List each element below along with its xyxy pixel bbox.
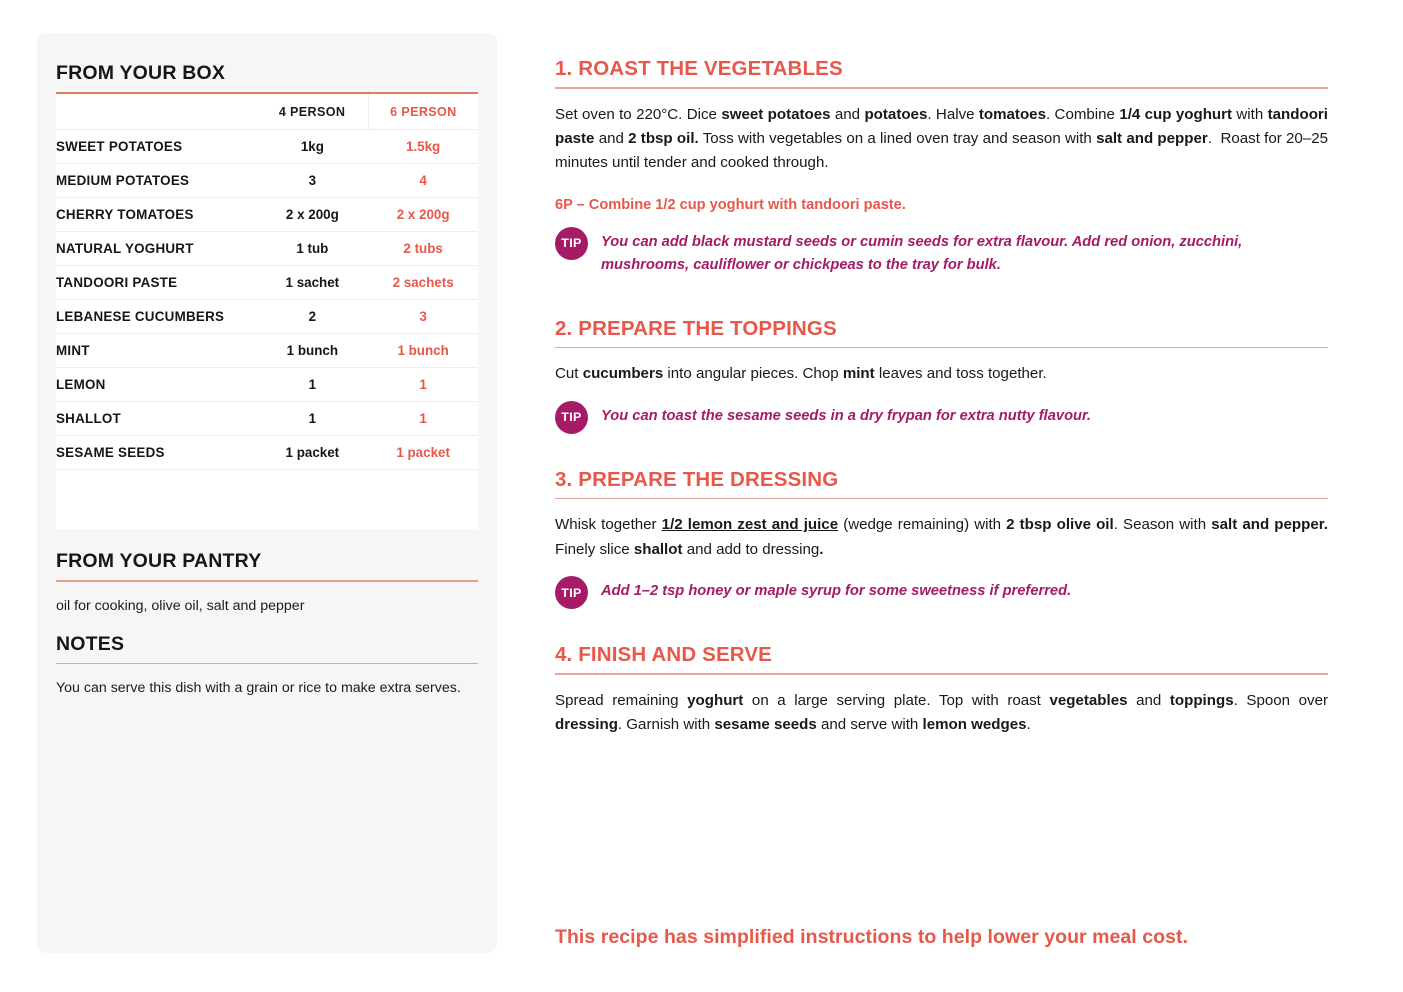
table-row: LEMON 1 1 (56, 367, 478, 401)
ingredient-qty-4: 1 (256, 401, 368, 435)
ingredient-qty-6: 1 (368, 367, 478, 401)
table-row: LEBANESE CUCUMBERS 2 3 (56, 299, 478, 333)
ingredient-name: TANDOORI PASTE (56, 265, 256, 299)
ingredient-qty-6: 1 bunch (368, 333, 478, 367)
column-header-4-person: 4 PERSON (256, 94, 368, 130)
ingredient-qty-6: 1 packet (368, 435, 478, 469)
step-2-body: Cut cucumbers into angular pieces. Chop … (555, 362, 1328, 386)
ingredient-name: CHERRY TOMATOES (56, 197, 256, 231)
ingredient-name: MEDIUM POTATOES (56, 163, 256, 197)
ingredient-name: SWEET POTATOES (56, 129, 256, 163)
notes-section: NOTES You can serve this dish with a gra… (56, 633, 478, 700)
table-row: SWEET POTATOES 1kg 1.5kg (56, 129, 478, 163)
table-header-row: 4 PERSON 6 PERSON (56, 94, 478, 130)
table-row: TANDOORI PASTE 1 sachet 2 sachets (56, 265, 478, 299)
step-4-body: Spread remaining yoghurt on a large serv… (555, 689, 1328, 738)
ingredient-qty-6: 2 tubs (368, 231, 478, 265)
ingredient-qty-6: 1.5kg (368, 129, 478, 163)
ingredient-qty-4: 1 packet (256, 435, 368, 469)
ingredients-table: 4 PERSON 6 PERSON SWEET POTATOES 1kg 1.5… (56, 94, 478, 500)
table-row: SESAME SEEDS 1 packet 1 packet (56, 435, 478, 469)
ingredient-qty-6: 1 (368, 401, 478, 435)
step-2-tip-text: You can toast the sesame seeds in a dry … (601, 405, 1091, 428)
ingredient-qty-4: 1 bunch (256, 333, 368, 367)
ingredient-qty-4: 1 sachet (256, 265, 368, 299)
ingredient-qty-4: 1 (256, 367, 368, 401)
step-1-six-person-note: 6P – Combine 1/2 cup yoghurt with tandoo… (555, 197, 1328, 213)
ingredient-name: SHALLOT (56, 401, 256, 435)
ingredient-qty-4: 2 (256, 299, 368, 333)
from-your-box-section: FROM YOUR BOX 4 PERSON 6 PERSON (56, 62, 478, 529)
step-3: 3. PREPARE THE DRESSING Whisk together 1… (555, 468, 1328, 609)
step-4: 4. FINISH AND SERVE Spread remaining yog… (555, 643, 1328, 737)
ingredient-qty-6: 2 x 200g (368, 197, 478, 231)
step-1-body: Set oven to 220°C. Dice sweet potatoes a… (555, 103, 1328, 176)
table-row: CHERRY TOMATOES 2 x 200g 2 x 200g (56, 197, 478, 231)
ingredient-qty-4: 1 tub (256, 231, 368, 265)
ingredients-sidebar: FROM YOUR BOX 4 PERSON 6 PERSON (37, 33, 497, 953)
step-4-divider (555, 673, 1328, 675)
from-your-box-title: FROM YOUR BOX (56, 62, 478, 85)
footer-note: This recipe has simplified instructions … (555, 926, 1345, 949)
step-2-divider (555, 347, 1328, 349)
from-your-pantry-section: FROM YOUR PANTRY oil for cooking, olive … (56, 550, 478, 617)
column-header-6-person: 6 PERSON (368, 94, 478, 130)
tip-badge-icon: TIP (555, 401, 588, 434)
step-1-tip: TIP You can add black mustard seeds or c… (555, 231, 1328, 277)
step-3-tip: TIP Add 1–2 tsp honey or maple syrup for… (555, 580, 1328, 609)
from-your-pantry-title: FROM YOUR PANTRY (56, 550, 478, 573)
step-2-heading: 2. PREPARE THE TOPPINGS (555, 317, 1328, 341)
table-row: NATURAL YOGHURT 1 tub 2 tubs (56, 231, 478, 265)
notes-title: NOTES (56, 633, 478, 656)
step-2-tip: TIP You can toast the sesame seeds in a … (555, 405, 1328, 434)
step-1: 1. ROAST THE VEGETABLES Set oven to 220°… (555, 57, 1328, 277)
table-row: MINT 1 bunch 1 bunch (56, 333, 478, 367)
column-header-ingredient (56, 94, 256, 130)
ingredient-qty-4: 1kg (256, 129, 368, 163)
step-1-tip-text: You can add black mustard seeds or cumin… (601, 231, 1328, 277)
notes-text: You can serve this dish with a grain or … (56, 664, 478, 699)
tip-badge-icon: TIP (555, 576, 588, 609)
table-trailing-spacer (56, 469, 478, 499)
ingredient-qty-6: 3 (368, 299, 478, 333)
step-3-body: Whisk together 1/2 lemon zest and juice … (555, 513, 1328, 562)
ingredient-qty-6: 4 (368, 163, 478, 197)
pantry-items-text: oil for cooking, olive oil, salt and pep… (56, 582, 478, 617)
ingredient-qty-4: 3 (256, 163, 368, 197)
step-3-heading: 3. PREPARE THE DRESSING (555, 468, 1328, 492)
ingredient-qty-4: 2 x 200g (256, 197, 368, 231)
tip-badge-icon: TIP (555, 227, 588, 260)
ingredients-table-wrap: 4 PERSON 6 PERSON SWEET POTATOES 1kg 1.5… (56, 94, 478, 530)
ingredient-name: LEMON (56, 367, 256, 401)
table-row: SHALLOT 1 1 (56, 401, 478, 435)
ingredient-name: NATURAL YOGHURT (56, 231, 256, 265)
table-row: MEDIUM POTATOES 3 4 (56, 163, 478, 197)
ingredient-name: LEBANESE CUCUMBERS (56, 299, 256, 333)
step-3-tip-text: Add 1–2 tsp honey or maple syrup for som… (601, 580, 1071, 603)
ingredient-name: SESAME SEEDS (56, 435, 256, 469)
instructions-column: 1. ROAST THE VEGETABLES Set oven to 220°… (555, 57, 1328, 738)
step-1-divider (555, 87, 1328, 89)
step-4-heading: 4. FINISH AND SERVE (555, 643, 1328, 667)
step-2: 2. PREPARE THE TOPPINGS Cut cucumbers in… (555, 317, 1328, 434)
ingredient-qty-6: 2 sachets (368, 265, 478, 299)
ingredient-name: MINT (56, 333, 256, 367)
step-1-heading: 1. ROAST THE VEGETABLES (555, 57, 1328, 81)
step-3-divider (555, 498, 1328, 500)
recipe-card-page: FROM YOUR BOX 4 PERSON 6 PERSON (0, 0, 1403, 992)
